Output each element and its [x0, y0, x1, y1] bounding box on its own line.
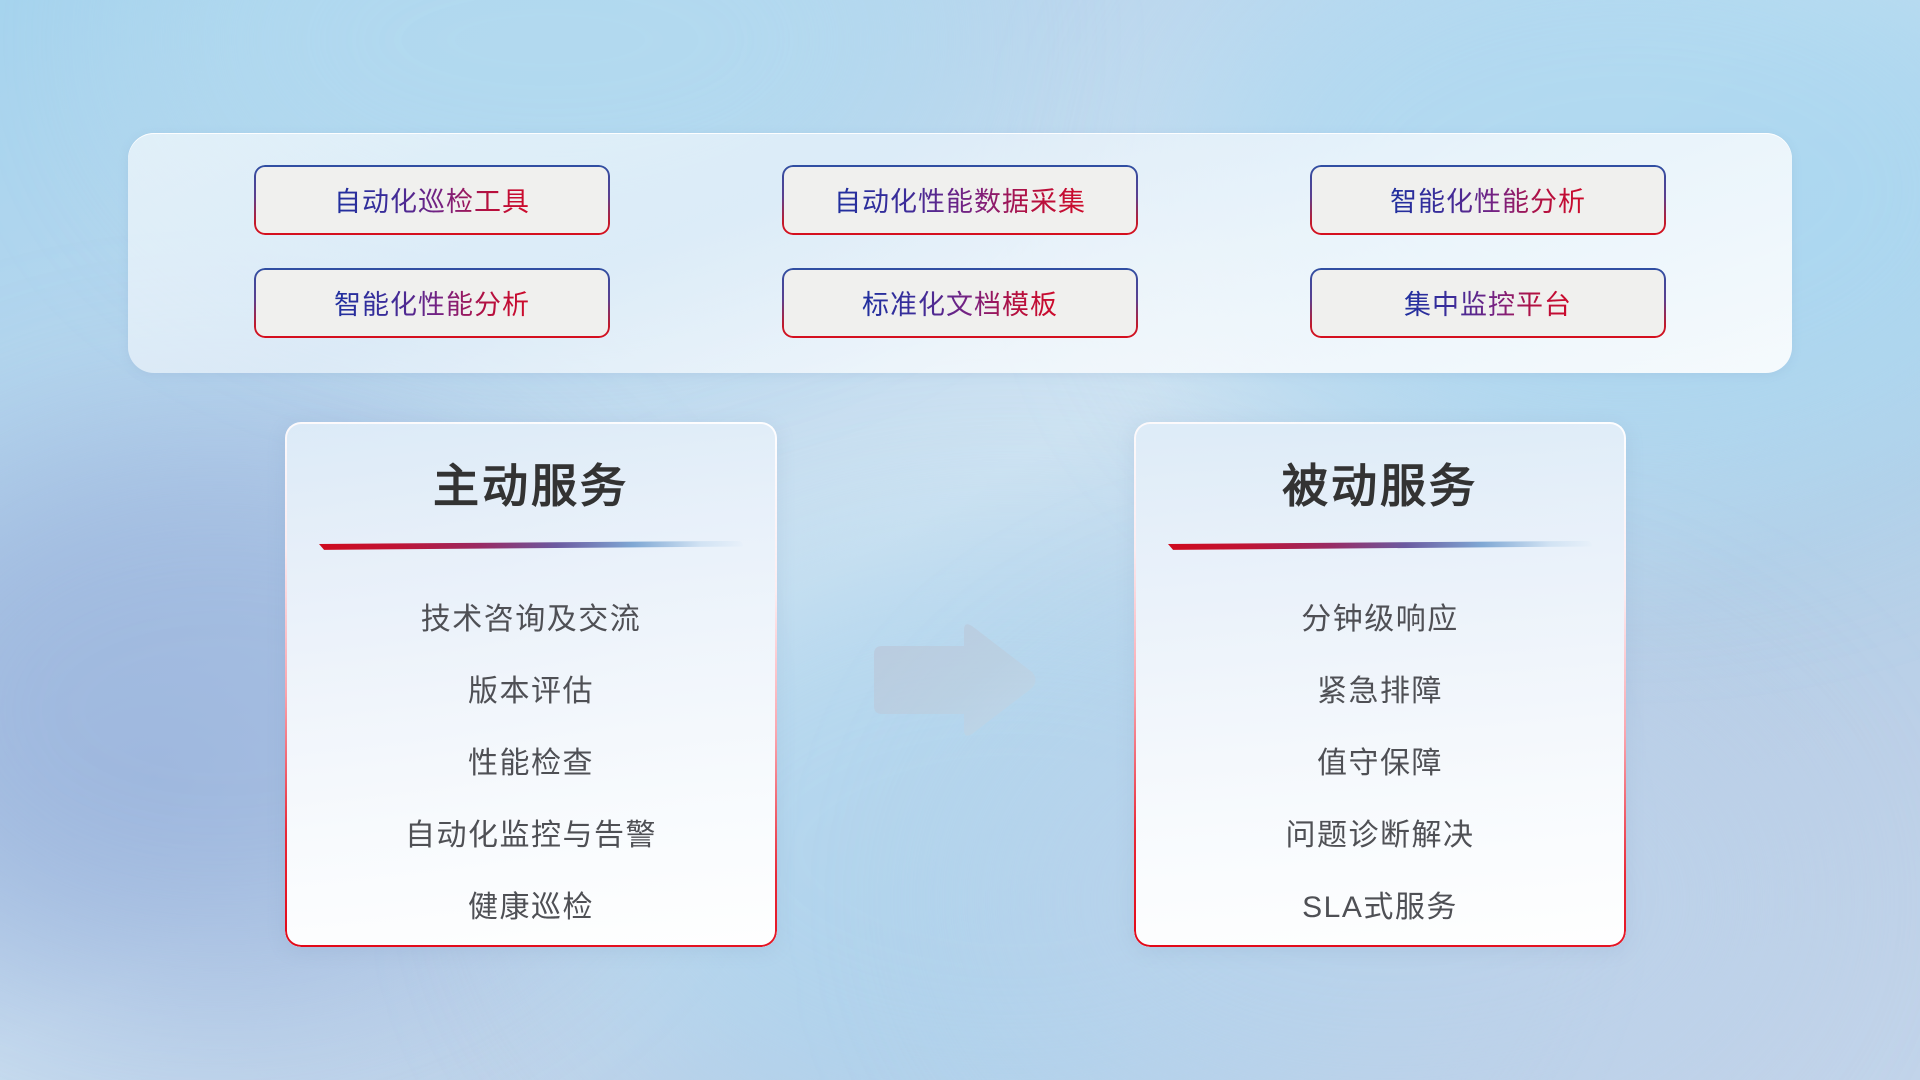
- title-divider: [1168, 541, 1592, 550]
- capability-panel: 自动化巡检工具 自动化性能数据采集 智能化性能分析 智能化性能分析 标准化文档模…: [128, 133, 1792, 373]
- service-list-item: 紧急排障: [1168, 656, 1592, 728]
- capability-pill[interactable]: 自动化性能数据采集: [782, 165, 1138, 235]
- capability-pill[interactable]: 智能化性能分析: [1310, 165, 1666, 235]
- service-list-item: 分钟级响应: [1168, 584, 1592, 656]
- service-list-item: 版本评估: [319, 656, 743, 728]
- capability-pill[interactable]: 智能化性能分析: [254, 268, 610, 338]
- service-card-title: 主动服务: [319, 460, 743, 513]
- service-card-proactive[interactable]: 主动服务 技术咨询及交流 版本评估 性能检查 自动化监控与告警 健康巡检: [285, 422, 777, 947]
- service-list-item: 健康巡检: [319, 872, 743, 944]
- service-card-title: 被动服务: [1168, 460, 1592, 513]
- arrow-right-icon: [866, 620, 1038, 740]
- capability-pill-label: 标准化文档模板: [862, 283, 1058, 322]
- capability-pill[interactable]: 集中监控平台: [1310, 268, 1666, 338]
- capability-pill-label: 集中监控平台: [1404, 283, 1572, 322]
- service-card-reactive[interactable]: 被动服务 分钟级响应 紧急排障 值守保障 问题诊断解决 SLA式服务: [1134, 422, 1626, 947]
- capability-pill[interactable]: 标准化文档模板: [782, 268, 1138, 338]
- title-divider: [319, 541, 743, 550]
- service-list-item: 问题诊断解决: [1168, 800, 1592, 872]
- capability-pill-label: 智能化性能分析: [334, 283, 530, 322]
- service-item-list: 技术咨询及交流 版本评估 性能检查 自动化监控与告警 健康巡检: [319, 584, 743, 944]
- capability-pill[interactable]: 自动化巡检工具: [254, 165, 610, 235]
- capability-pill-label: 自动化巡检工具: [334, 180, 530, 219]
- slide-canvas: 自动化巡检工具 自动化性能数据采集 智能化性能分析 智能化性能分析 标准化文档模…: [0, 0, 1920, 1080]
- service-list-item: 值守保障: [1168, 728, 1592, 800]
- service-item-list: 分钟级响应 紧急排障 值守保障 问题诊断解决 SLA式服务: [1168, 584, 1592, 944]
- service-list-item: 技术咨询及交流: [319, 584, 743, 656]
- service-list-item: 自动化监控与告警: [319, 800, 743, 872]
- capability-pill-label: 智能化性能分析: [1390, 180, 1586, 219]
- service-list-item: 性能检查: [319, 728, 743, 800]
- capability-pill-label: 自动化性能数据采集: [834, 180, 1086, 219]
- service-list-item: SLA式服务: [1168, 872, 1592, 944]
